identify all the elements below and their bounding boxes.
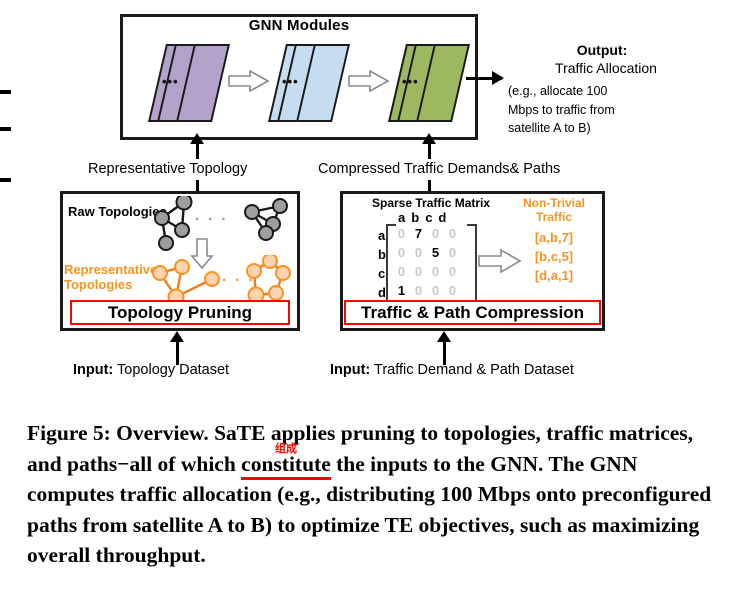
figure-caption: Figure 5: Overview. SaTE applies pruning…	[27, 418, 717, 571]
connector-arrow-right	[428, 142, 431, 159]
matrix-column-headers: abcd	[398, 210, 452, 225]
connector-label-left: Representative Topology	[88, 161, 247, 177]
matrix-bracket-right	[467, 224, 477, 306]
ellipsis-dots: •••	[402, 78, 419, 86]
raw-topology-ellipsis: · · ·	[195, 211, 228, 228]
traffic-path-compression-banner: Traffic & Path Compression	[344, 300, 601, 325]
page-edge-mark	[0, 178, 11, 182]
nontrivial-traffic-item: [d,a,1]	[508, 266, 600, 285]
input-label-right: Input: Traffic Demand & Path Dataset	[330, 362, 574, 378]
connector-label-right: Compressed Traffic Demands& Paths	[318, 161, 560, 177]
output-detail-line: satellite A to B)	[508, 119, 718, 138]
matrix-cell: 0	[444, 262, 461, 281]
matrix-row: 1000	[393, 281, 461, 300]
matrix-cell: 0	[427, 262, 444, 281]
representative-topologies-label: Representative Topologies	[64, 263, 157, 292]
input-text: Traffic Demand & Path Dataset	[370, 362, 574, 378]
representative-topology-ellipsis: · · ·	[222, 272, 255, 289]
rep-label-line1: Representative	[64, 263, 157, 278]
input-label-left: Input: Topology Dataset	[73, 362, 229, 378]
matrix-row: 0000	[393, 262, 461, 281]
rep-label-line2: Topologies	[64, 278, 157, 293]
layer-stack-blue: •••	[268, 44, 342, 122]
ellipsis-dots: •••	[282, 78, 299, 86]
matrix-cell: 0	[393, 262, 410, 281]
layer-stack-green: •••	[388, 44, 462, 122]
output-arrow-icon	[466, 77, 502, 80]
nontrivial-traffic-item: [b,c,5]	[508, 247, 600, 266]
matrix-cell: 0	[410, 281, 427, 300]
output-detail: (e.g., allocate 100 Mbps to traffic from…	[508, 82, 718, 138]
matrix-row: 0050	[393, 243, 461, 262]
sparse-traffic-matrix: 0700005000001000	[393, 224, 461, 300]
flow-arrow-icon	[228, 70, 270, 92]
input-prefix: Input:	[73, 362, 113, 378]
matrix-col-header: a	[398, 210, 411, 225]
matrix-row-header: a	[378, 226, 386, 245]
connector-tick-right	[428, 180, 431, 191]
layer-stack-purple: •••	[148, 44, 222, 122]
matrix-row: 0700	[393, 224, 461, 243]
matrix-cell: 0	[444, 243, 461, 262]
output-title: Output:	[512, 42, 692, 58]
matrix-cell: 0	[393, 224, 410, 243]
matrix-cell: 0	[444, 281, 461, 300]
figure-diagram: GNN Modules ••• ••• ••• Output: Traffic …	[0, 0, 753, 400]
nontrivial-traffic-title: Non-Trivial Traffic	[508, 196, 600, 224]
topology-pruning-banner: Topology Pruning	[70, 300, 290, 325]
matrix-cell: 0	[444, 224, 461, 243]
page-edge-mark	[0, 127, 11, 131]
input-text: Topology Dataset	[113, 362, 229, 378]
connector-arrow-left	[196, 142, 199, 159]
matrix-col-header: b	[411, 210, 425, 225]
nt-title-line2: Traffic	[508, 210, 600, 224]
matrix-col-header: c	[425, 210, 438, 225]
handwritten-annotation: 组成	[275, 434, 297, 465]
output-subtitle: Traffic Allocation	[506, 60, 706, 76]
page-edge-mark	[0, 90, 11, 94]
matrix-cell: 0	[410, 262, 427, 281]
ellipsis-dots: •••	[162, 78, 179, 86]
matrix-cell: 0	[427, 281, 444, 300]
sparse-matrix-title: Sparse Traffic Matrix	[372, 196, 490, 210]
matrix-cell: 1	[393, 281, 410, 300]
nontrivial-traffic-list: [a,b,7] [b,c,5] [d,a,1]	[508, 228, 600, 285]
flow-arrow-icon	[348, 70, 390, 92]
matrix-row-headers: a b c d	[378, 226, 386, 302]
nontrivial-traffic-item: [a,b,7]	[508, 228, 600, 247]
annotated-term: 组成constitute	[241, 449, 331, 480]
connector-tick-left	[196, 180, 199, 191]
matrix-col-header: d	[438, 210, 452, 225]
output-detail-line: (e.g., allocate 100	[508, 82, 718, 101]
input-prefix: Input:	[330, 362, 370, 378]
output-detail-line: Mbps to traffic from	[508, 101, 718, 120]
matrix-row-header: b	[378, 245, 386, 264]
gnn-modules-title: GNN Modules	[120, 17, 478, 34]
matrix-cell: 5	[427, 243, 444, 262]
matrix-row-header: c	[378, 264, 386, 283]
matrix-cell: 0	[427, 224, 444, 243]
matrix-cell: 0	[393, 243, 410, 262]
matrix-cell: 0	[410, 243, 427, 262]
matrix-cell: 7	[410, 224, 427, 243]
nt-title-line1: Non-Trivial	[508, 196, 600, 210]
